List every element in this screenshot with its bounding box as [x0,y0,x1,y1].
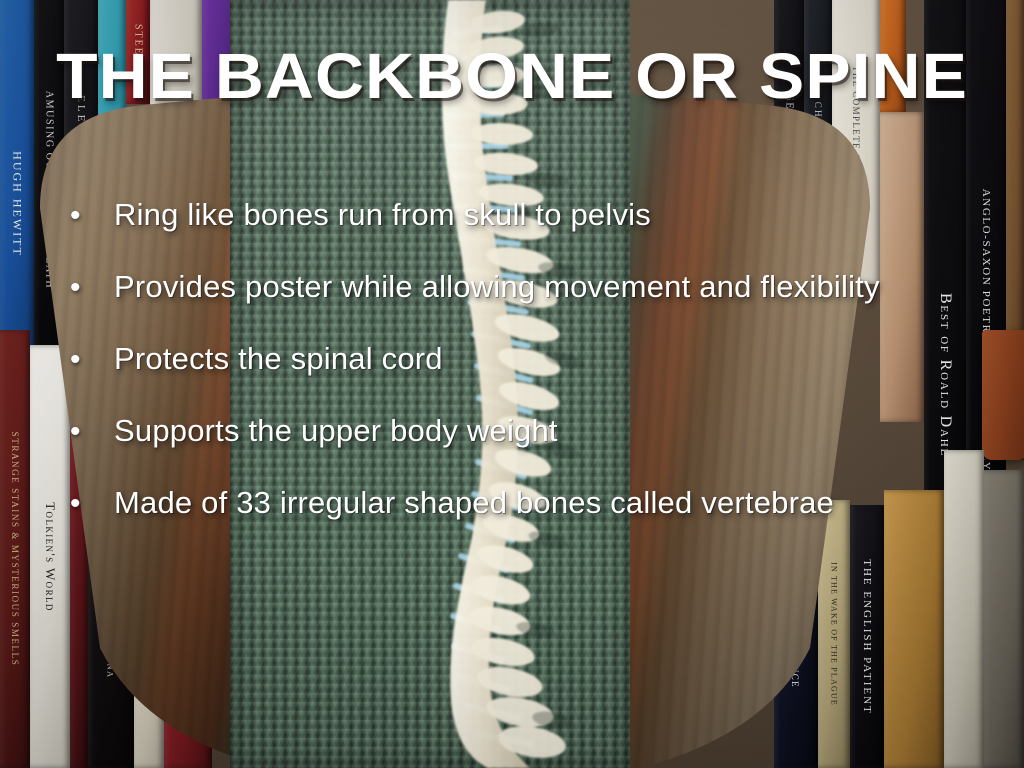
bullet-marker-icon: • [62,345,114,375]
list-item: • Provides poster while allowing movemen… [62,270,992,342]
bullet-text: Provides poster while allowing movement … [114,270,992,304]
bullet-text: Supports the upper body weight [114,414,992,448]
bullet-marker-icon: • [62,417,114,447]
slide-content: THE BACKBONE OR SPINE • Ring like bones … [0,0,1024,768]
presentation-slide: HUGH HEWITT AMUSING OURSELVES TO DEATH E… [0,0,1024,768]
list-item: • Protects the spinal cord [62,342,992,414]
bullet-marker-icon: • [62,201,114,231]
list-item: • Ring like bones run from skull to pelv… [62,198,992,270]
bullet-list: • Ring like bones run from skull to pelv… [62,198,992,558]
list-item: • Supports the upper body weight [62,414,992,486]
bullet-text: Ring like bones run from skull to pelvis [114,198,992,232]
bullet-text: Protects the spinal cord [114,342,992,376]
bullet-marker-icon: • [62,489,114,519]
slide-title: THE BACKBONE OR SPINE [0,44,1024,108]
bullet-marker-icon: • [62,273,114,303]
list-item: • Made of 33 irregular shaped bones call… [62,486,992,558]
bullet-text: Made of 33 irregular shaped bones called… [114,486,992,520]
